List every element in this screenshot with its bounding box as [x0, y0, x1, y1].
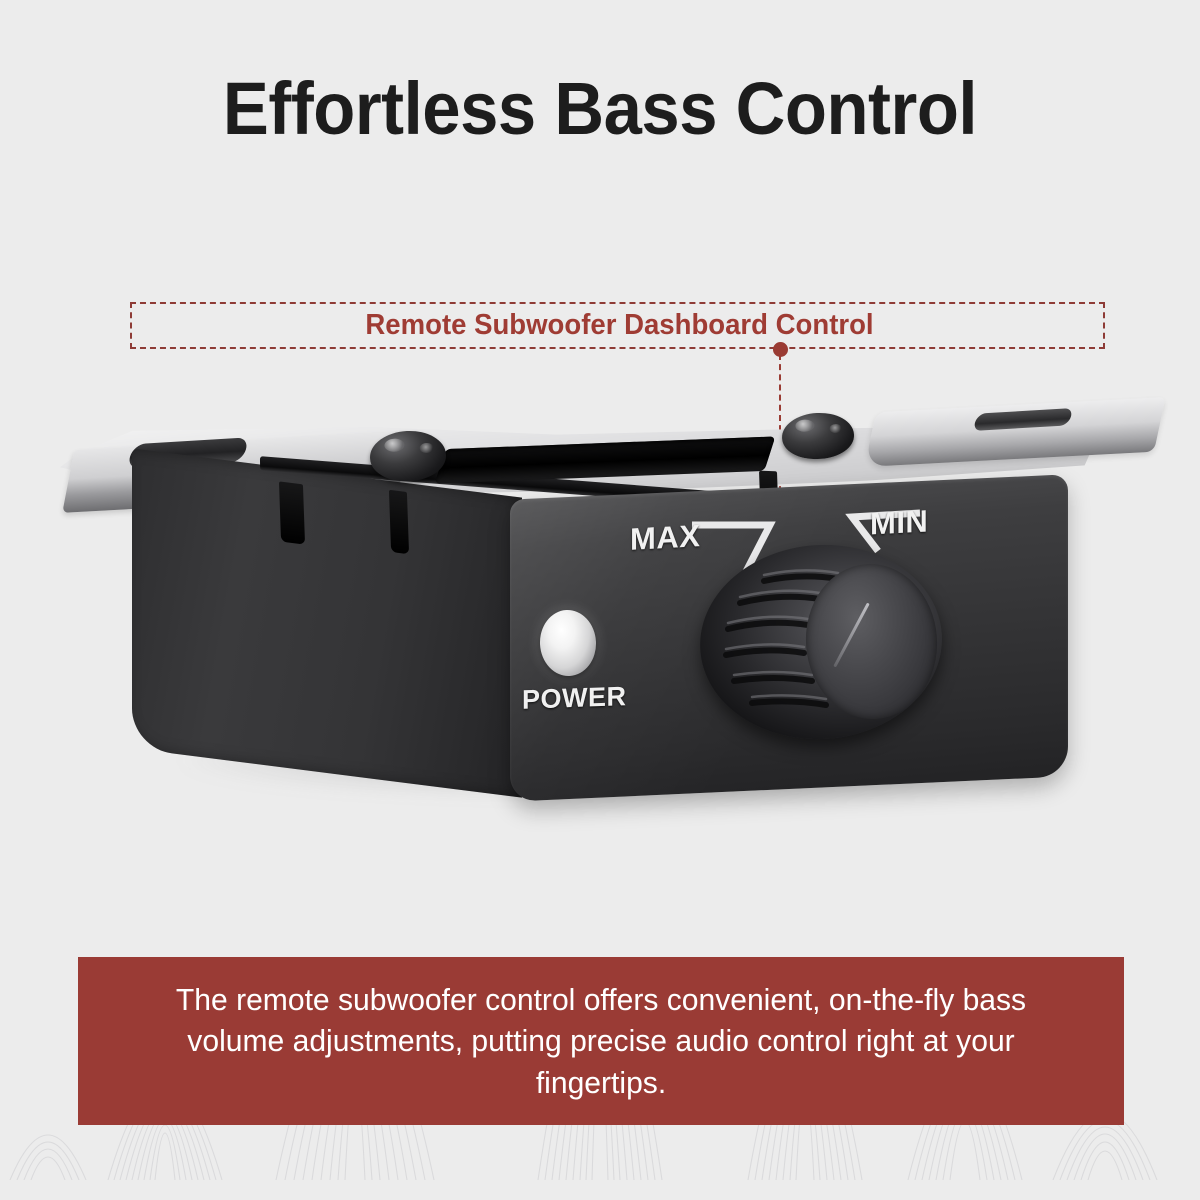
- label-power: POWER: [522, 681, 627, 716]
- callout-label: Remote Subwoofer Dashboard Control: [156, 304, 1082, 347]
- label-max: MAX: [630, 518, 700, 558]
- enclosure-side-face: [132, 448, 522, 797]
- page-title: Effortless Bass Control: [42, 68, 1158, 149]
- product-image: MAX MIN: [60, 395, 1150, 815]
- marketing-banner: Effortless Bass Control Remote Subwoofer…: [0, 0, 1200, 1200]
- label-min: MIN: [870, 503, 928, 542]
- mounting-bracket-right-wing: [864, 397, 1165, 467]
- callout-box: Remote Subwoofer Dashboard Control: [130, 302, 1105, 349]
- enclosure-clip-tab: [279, 481, 305, 544]
- enclosure-clip-tab: [389, 490, 409, 555]
- volume-knob[interactable]: [700, 545, 942, 739]
- caption-panel: The remote subwoofer control offers conv…: [78, 957, 1124, 1125]
- caption-text: The remote subwoofer control offers conv…: [136, 979, 1065, 1103]
